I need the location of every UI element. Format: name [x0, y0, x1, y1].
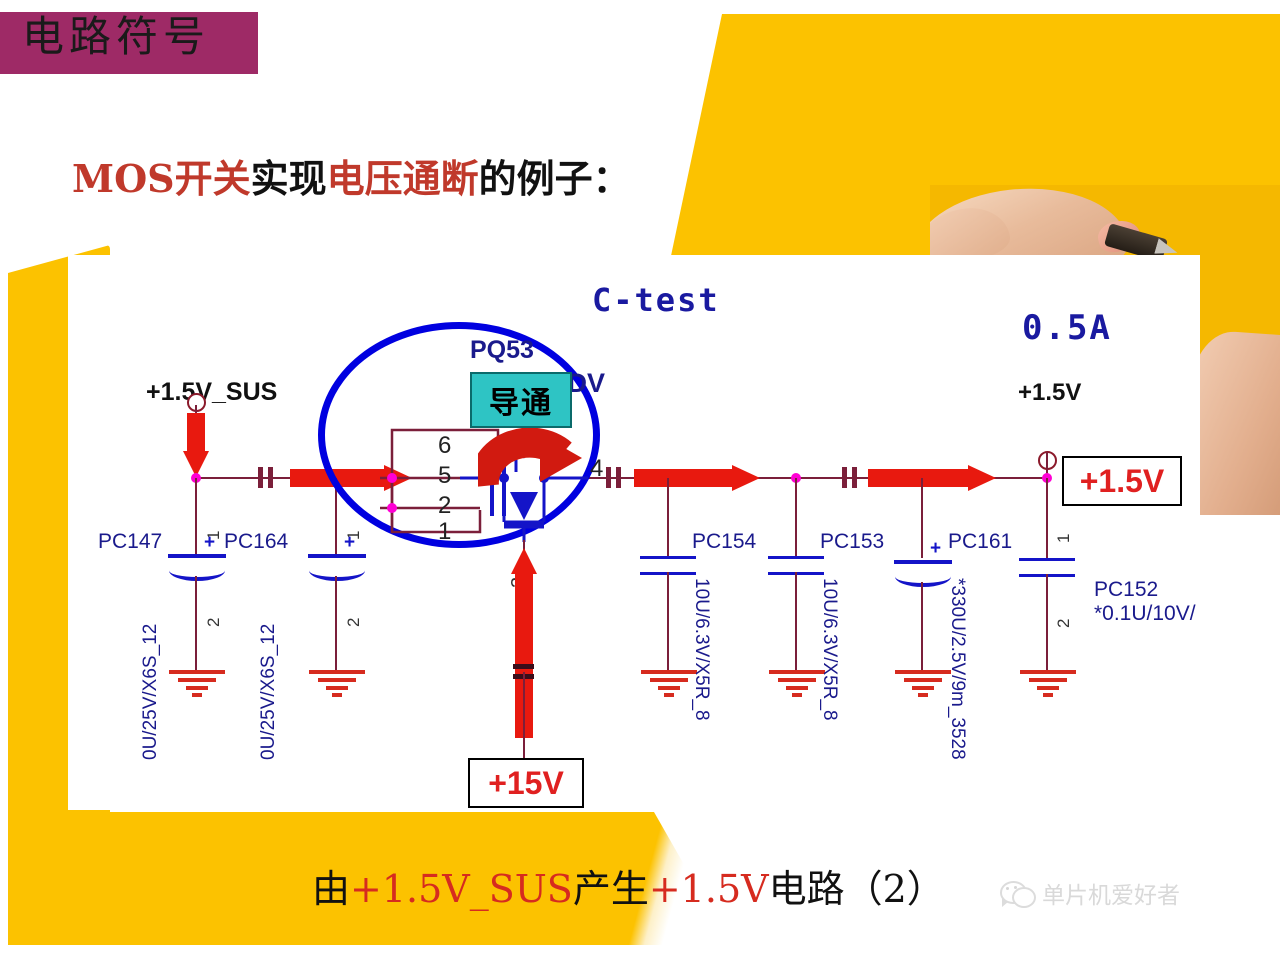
ref-pc154: PC154	[692, 530, 756, 554]
cap-pc147-polarity: +	[204, 533, 215, 552]
subtitle-part-3: 电压通断	[327, 156, 479, 201]
wire-pc154-branch	[667, 478, 669, 558]
wire-pc153-gnd	[795, 572, 797, 670]
flow-arrow-3	[868, 465, 996, 491]
caption-part-2: +1.5V_SUS	[350, 867, 573, 911]
watermark-label: 单片机爱好者	[1042, 876, 1180, 910]
subtitle-part-1: MOS开关	[72, 156, 251, 201]
ref-pc161: PC161	[948, 530, 1012, 554]
pin-pc152-1: 1	[1054, 534, 1074, 543]
ground-pc154	[668, 670, 669, 694]
flow-arrow-input	[183, 413, 209, 477]
gate-voltage-label: +15V	[488, 765, 564, 802]
mosfet-pin-2: 2	[438, 492, 451, 520]
subtitle-part-2: 实现	[251, 156, 327, 201]
mosfet-pin-6: 6	[438, 432, 451, 460]
cap-pc161-curve	[895, 566, 951, 587]
value-pc164: 0U/25V/X6S_12	[258, 624, 280, 760]
subtitle: MOS开关实现电压通断的例子：	[72, 148, 631, 203]
mosfet-pin-1: 1	[438, 518, 451, 546]
wire-pc164-gnd	[335, 576, 337, 672]
cap-pc152-plate-top	[1019, 558, 1075, 561]
caption-part-4: +1.5V	[649, 867, 769, 911]
net-node	[387, 473, 397, 483]
status-badge-label: 导通	[489, 378, 553, 422]
ref-pc164: PC164	[224, 530, 288, 554]
watermark: 单片机爱好者	[1000, 876, 1180, 910]
net-node	[387, 503, 397, 513]
cap-pc164-polarity: +	[344, 533, 355, 552]
wire-pc147-gnd	[195, 576, 197, 672]
value-pc153: 10U/6.3V/X5R_8	[818, 578, 840, 721]
wire-gate-to-box	[523, 672, 525, 760]
cap-pc154-plate-top	[640, 556, 696, 559]
status-badge-conducting: 导通	[470, 372, 572, 428]
cap-pc147-curve	[169, 560, 225, 581]
slide-canvas: 电路符号 MOS开关实现电压通断的例子： C-test 0.5A +1.5V_S…	[0, 0, 1280, 960]
output-voltage-label: +1.5V	[1080, 463, 1165, 500]
ground-pc161	[922, 670, 923, 694]
wire-pc152-gnd	[1046, 574, 1048, 670]
pin-pc147-2: 2	[204, 618, 224, 627]
wire-pc161-gnd	[921, 582, 923, 672]
output-voltage-box: +1.5V	[1062, 456, 1182, 506]
subtitle-part-4: 的例子：	[479, 156, 631, 201]
ground-pc147	[196, 670, 197, 694]
flow-arrow-curved	[478, 428, 582, 490]
cap-pc147-plate	[168, 554, 226, 558]
caption-part-5: 电路（2）	[769, 867, 945, 911]
input-rail-label: +1.5V_SUS	[146, 378, 277, 407]
cap-pc153-plate-top	[768, 556, 824, 559]
wire-pc147-branch	[195, 478, 197, 554]
wire-pc161-branch	[921, 478, 923, 558]
cap-pc164-curve	[309, 560, 365, 581]
caption-part-1: 由	[312, 867, 350, 911]
ref-pq53: PQ53	[470, 336, 534, 365]
caption-part-3: 产生	[573, 867, 649, 911]
value-pc154: 10U/6.3V/X5R_8	[690, 578, 712, 721]
wire-pc153-branch	[795, 478, 797, 558]
gate-voltage-box: +15V	[468, 758, 584, 808]
pin-pc152-2: 2	[1054, 619, 1074, 628]
value-pc161: *330U/2.5V/9m_3528	[946, 578, 968, 760]
output-rail-label: +1.5V	[1018, 379, 1081, 407]
ref-pc152: PC152	[1094, 578, 1158, 602]
current-rating-label: 0.5A	[1022, 308, 1112, 348]
pin-pc164-2: 2	[344, 618, 364, 627]
page-title: 电路符号	[22, 16, 210, 58]
schematic-title-ctest: C-test	[592, 281, 720, 319]
mosfet-pin-4: 4	[590, 455, 603, 483]
cap-pc164-plate	[308, 554, 366, 558]
ref-pc147: PC147	[98, 530, 162, 554]
mosfet-pin-5: 5	[438, 462, 451, 490]
ground-pc153	[796, 670, 797, 694]
flow-arrow-2	[634, 465, 760, 491]
wire-pc154-gnd	[667, 572, 669, 670]
ground-pc152	[1047, 670, 1048, 694]
slide-caption: 由+1.5V_SUS产生+1.5V电路（2）	[312, 858, 945, 913]
value-pc152: *0.1U/10V/	[1094, 602, 1196, 626]
wechat-icon	[1000, 880, 1034, 906]
cap-pc161-polarity: +	[930, 539, 941, 558]
ref-pc153: PC153	[820, 530, 884, 554]
ground-pc164	[336, 670, 337, 694]
value-pc147: 0U/25V/X6S_12	[140, 624, 162, 760]
wire-pc152-branch	[1046, 478, 1048, 558]
cap-pc161-plate	[894, 560, 952, 564]
